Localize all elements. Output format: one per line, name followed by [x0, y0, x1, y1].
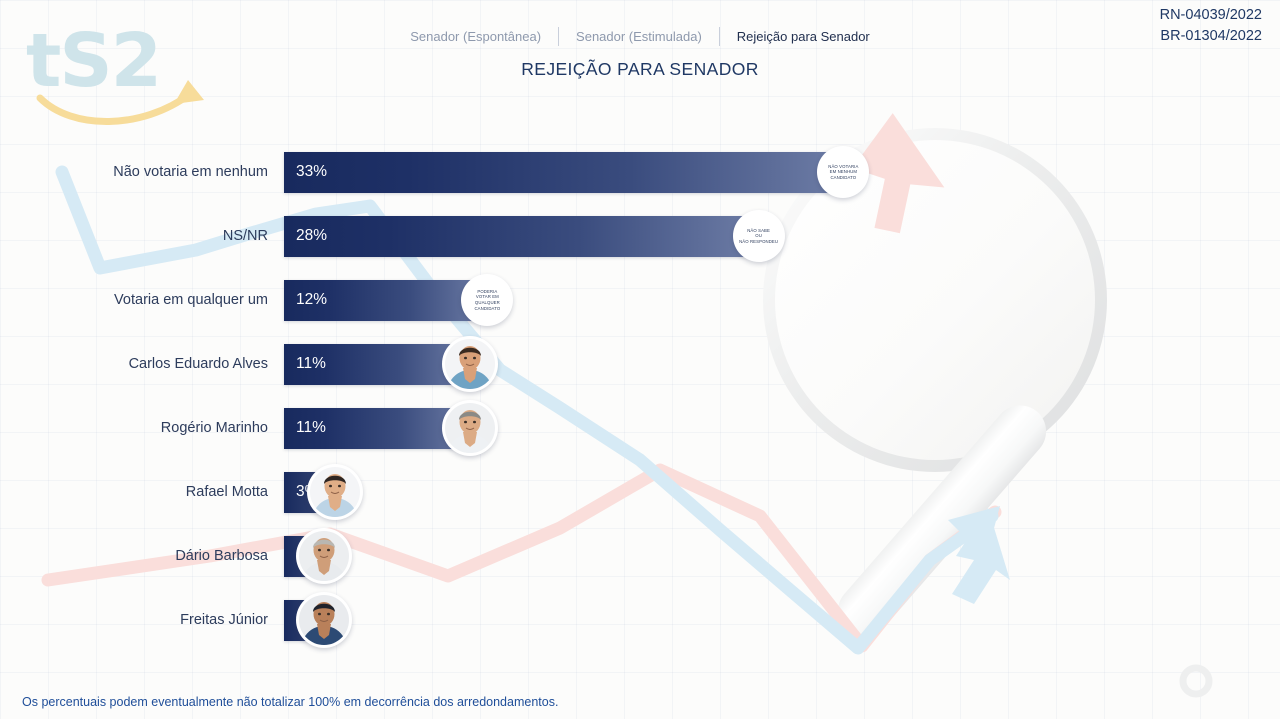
tab-bar[interactable]: Senador (Espontânea) Senador (Estimulada… — [0, 27, 1280, 46]
chart-bar-wrapper: 12%PODERIAVOTAR EMQUALQUERCANDIDATO — [284, 268, 547, 332]
chart-row: Votaria em qualquer um12%PODERIAVOTAR EM… — [0, 268, 1280, 332]
tab-senador-espontanea[interactable]: Senador (Espontânea) — [393, 29, 558, 45]
chart-row: Rogério Marinho11% — [0, 396, 1280, 460]
chart-bar[interactable]: 28% — [284, 216, 759, 257]
portrait-candidate-rogerio-marinho — [445, 403, 495, 453]
chart-endcap-photo — [442, 400, 498, 456]
chart-row-label: Carlos Eduardo Alves — [129, 332, 268, 396]
chart-endcap-photo — [307, 464, 363, 520]
portrait-candidate-freitas-junior — [299, 595, 349, 645]
chart-row-label: NS/NR — [223, 204, 268, 268]
chart-row: Freitas Júnior2% — [0, 588, 1280, 652]
candidate-avatar — [310, 467, 360, 517]
tab-rejeicao-para-senador[interactable]: Rejeição para Senador — [720, 29, 887, 45]
footnote: Os percentuais podem eventualmente não t… — [22, 695, 558, 709]
chart-bar-wrapper: 11% — [284, 396, 530, 460]
chart-endcap-badge-text: NÃO SABEOUNÃO RESPONDEU — [736, 228, 781, 245]
chart-bar-value: 28% — [284, 228, 327, 244]
candidate-avatar — [299, 531, 349, 581]
chart-bar-value: 33% — [284, 164, 327, 180]
logo-arrow-head-icon — [174, 80, 204, 104]
candidate-avatar — [445, 339, 495, 389]
page-title: REJEIÇÃO PARA SENADOR — [0, 59, 1280, 80]
chart-bar-wrapper: 33%NÃO VOTARIAEM NENHUMCANDIDATO — [284, 140, 903, 204]
chart-endcap-badge-text: PODERIAVOTAR EMQUALQUERCANDIDATO — [471, 289, 503, 311]
chart-row: Dário Barbosa2% — [0, 524, 1280, 588]
chart-endcap-badge: NÃO VOTARIAEM NENHUMCANDIDATO — [817, 146, 869, 198]
chart-endcap-photo — [296, 528, 352, 584]
chart-bar-wrapper: 28%NÃO SABEOUNÃO RESPONDEU — [284, 204, 819, 268]
chart-bar-wrapper: 2% — [284, 524, 384, 588]
chart-bar-wrapper: 2% — [284, 588, 384, 652]
chart-row-label: Rogério Marinho — [161, 396, 268, 460]
tab-senador-estimulada[interactable]: Senador (Estimulada) — [559, 29, 719, 45]
chart-row-label: Não votaria em nenhum — [113, 140, 268, 204]
chart-bar[interactable]: 12% — [284, 280, 487, 321]
chart-row: Carlos Eduardo Alves11% — [0, 332, 1280, 396]
code-rn: RN-04039/2022 — [1160, 5, 1262, 26]
chart-bar-value: 11% — [284, 356, 326, 372]
chart-endcap-badge: NÃO SABEOUNÃO RESPONDEU — [733, 210, 785, 262]
chart-bar-wrapper: 3% — [284, 460, 395, 524]
chart-row: Não votaria em nenhum33%NÃO VOTARIAEM NE… — [0, 140, 1280, 204]
chart-row-label: Rafael Motta — [186, 460, 268, 524]
chart-row-label: Votaria em qualquer um — [114, 268, 268, 332]
logo-arrow-curve — [40, 94, 190, 122]
chart-endcap-badge: PODERIAVOTAR EMQUALQUERCANDIDATO — [461, 274, 513, 326]
chart-bar[interactable]: 33% — [284, 152, 843, 193]
portrait-candidate-carlos-eduardo-alves — [445, 339, 495, 389]
chart-endcap-badge-text: NÃO VOTARIAEM NENHUMCANDIDATO — [825, 164, 861, 181]
chart-row-label: Freitas Júnior — [180, 588, 268, 652]
chart-bar-value: 12% — [284, 292, 327, 308]
poll-chart-slide: tS2 RN-04039/2022 BR-01304/2022 Senador … — [0, 0, 1280, 719]
candidate-avatar — [445, 403, 495, 453]
chart-bar-value: 11% — [284, 420, 326, 436]
chart-bar-wrapper: 11% — [284, 332, 530, 396]
chart-endcap-photo — [442, 336, 498, 392]
portrait-candidate-rafael-motta — [310, 467, 360, 517]
bar-chart: Não votaria em nenhum33%NÃO VOTARIAEM NE… — [0, 140, 1280, 652]
chart-row: NS/NR28%NÃO SABEOUNÃO RESPONDEU — [0, 204, 1280, 268]
candidate-avatar — [299, 595, 349, 645]
chart-row: Rafael Motta3% — [0, 460, 1280, 524]
chart-endcap-photo — [296, 592, 352, 648]
chart-row-label: Dário Barbosa — [175, 524, 268, 588]
portrait-candidate-dario-barbosa — [299, 531, 349, 581]
